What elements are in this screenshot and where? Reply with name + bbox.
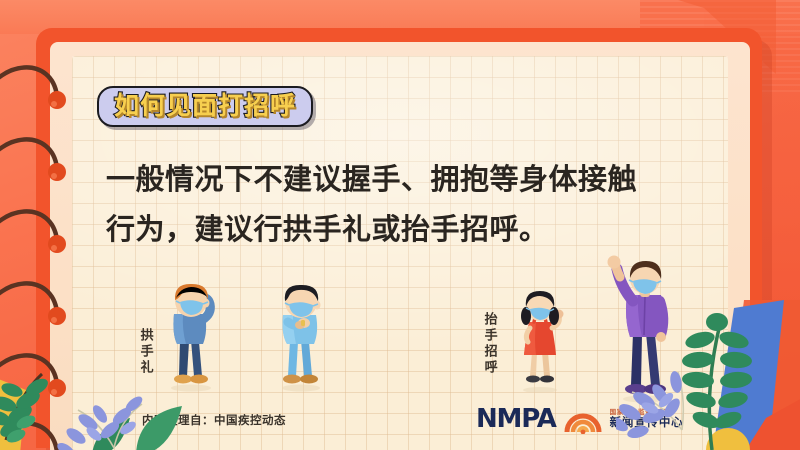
- figure-man-purple-shirt-raised-hand: [603, 255, 675, 403]
- body-text: 一般情况下不建议握手、拥抱等身体接触 行为，建议行拱手礼或抬手招呼。: [106, 155, 706, 255]
- caption-gongshou-li: 拱手礼: [137, 328, 153, 376]
- caption-taishou-zhaohu: 抬手招呼: [481, 312, 497, 376]
- title-text: 如何见面打招呼: [114, 93, 296, 118]
- body-text-line-2: 行为，建议行拱手礼或抬手招呼。: [106, 205, 706, 255]
- source-note: 内容整理自：中国疾控动态: [142, 412, 286, 428]
- body-text-line-1: 一般情况下不建议握手、拥抱等身体接触: [106, 155, 706, 205]
- nmpa-center-name: 新闻宣传中心: [610, 416, 684, 429]
- nmpa-chinese-name: 国家药品监督管理局 新闻宣传中心: [610, 409, 684, 429]
- nmpa-arc-icon: [563, 404, 603, 434]
- figure-boy-orange-hair-bowing: [158, 280, 224, 392]
- poster-image: 如何见面打招呼 一般情况下不建议握手、拥抱等身体接触 行为，建议行拱手礼或抬手招…: [0, 0, 800, 450]
- nmpa-wordmark: NMPA: [476, 404, 556, 434]
- nmpa-logo: NMPA 国家药品监督管理局 新闻宣传中心: [476, 404, 683, 434]
- figure-boy-black-hair-bowing: [268, 282, 334, 392]
- figure-girl-red-dress-waving: [507, 288, 573, 394]
- title-badge: 如何见面打招呼: [97, 86, 313, 127]
